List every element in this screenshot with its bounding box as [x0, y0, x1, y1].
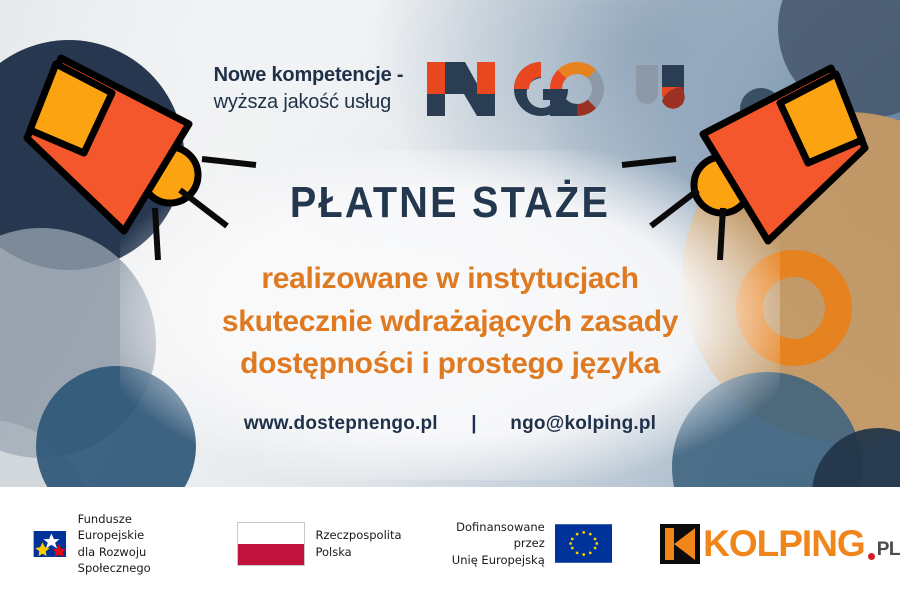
- header-row: Nowe kompetencje - wyższa jakość usług: [0, 58, 900, 120]
- kolping-wordmark: KOLPING: [703, 525, 865, 562]
- contact-row: www.dostepnengo.pl | ngo@kolping.pl: [0, 413, 900, 435]
- eu-funds-line-2: dla Rozwoju Społecznego: [78, 544, 196, 577]
- promotional-poster: Nowe kompetencje - wyższa jakość usług: [0, 0, 900, 600]
- cofinanced-line-1: Dofinansowane przez: [444, 519, 545, 552]
- body-line-1: realizowane w instytucjach: [0, 258, 900, 301]
- contact-separator: |: [443, 413, 505, 435]
- eu-funds-stars-icon: [32, 522, 68, 566]
- body-line-2: skutecznie wdrażających zasady: [0, 301, 900, 344]
- ngo-logo: [425, 58, 686, 120]
- poland-flag-red-band: [238, 544, 304, 565]
- eu-flag-icon: [555, 520, 612, 567]
- cofinanced-line-2: Unię Europejską: [444, 552, 545, 568]
- ngo-wordmark-icon: [425, 58, 625, 120]
- kolping-logo[interactable]: KOLPING PL: [660, 524, 900, 564]
- kolping-domain-suffix: PL: [877, 539, 900, 561]
- footer-logo-bar: Fundusze Europejskie dla Rozwoju Społecz…: [0, 487, 900, 600]
- republic-of-poland-block: Rzeczpospolita Polska: [237, 522, 401, 566]
- republic-line-2: Polska: [315, 544, 401, 560]
- republic-label: Rzeczpospolita Polska: [315, 527, 401, 560]
- eu-funds-label: Fundusze Europejskie dla Rozwoju Społecz…: [78, 511, 196, 576]
- ngo-leaf-mark-icon: [634, 63, 686, 115]
- tagline: Nowe kompetencje - wyższa jakość usług: [214, 62, 404, 116]
- body-line-3: dostępności i prostego języka: [0, 343, 900, 386]
- email-link[interactable]: ngo@kolping.pl: [510, 413, 656, 434]
- kolping-k-mark-icon: [660, 524, 700, 564]
- tagline-line-1: Nowe kompetencje -: [214, 62, 404, 89]
- tagline-line-2: wyższa jakość usług: [214, 89, 404, 116]
- kolping-dot-icon: [868, 553, 875, 560]
- body-copy: realizowane w instytucjach skutecznie wd…: [0, 258, 900, 386]
- poland-flag-icon: [237, 522, 305, 566]
- cofinanced-by-eu-block: Dofinansowane przez Unię Europejską: [444, 519, 613, 568]
- page-title: PŁATNE STAŻE: [45, 178, 855, 228]
- website-link[interactable]: www.dostepnengo.pl: [244, 413, 438, 434]
- eu-funds-logo-block: Fundusze Europejskie dla Rozwoju Społecz…: [32, 511, 195, 576]
- cofinanced-label: Dofinansowane przez Unię Europejską: [444, 519, 545, 568]
- eu-funds-line-1: Fundusze Europejskie: [78, 511, 196, 544]
- poland-flag-white-band: [238, 523, 304, 544]
- republic-line-1: Rzeczpospolita: [315, 527, 401, 543]
